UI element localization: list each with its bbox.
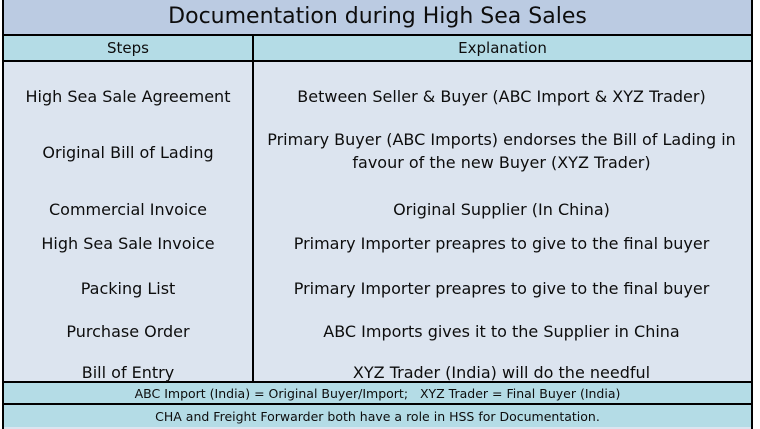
table-row: Original Bill of Lading <box>4 142 252 163</box>
table-row: Primary Importer preapres to give to the… <box>252 233 751 254</box>
table-row: Primary Importer preapres to give to the… <box>252 278 751 299</box>
steps-column: High Sea Sale Agreement Original Bill of… <box>4 62 252 381</box>
table-row: Between Seller & Buyer (ABC Import & XYZ… <box>252 86 751 107</box>
table-title-band: Documentation during High Sea Sales <box>4 0 751 36</box>
documentation-table: Documentation during High Sea Sales Step… <box>2 0 753 429</box>
table-row: Packing List <box>4 278 252 299</box>
column-header-explanation: Explanation <box>252 36 751 60</box>
footnote-text: CHA and Freight Forwarder both have a ro… <box>155 410 600 423</box>
explanation-column: Between Seller & Buyer (ABC Import & XYZ… <box>252 62 751 381</box>
table-row: High Sea Sale Invoice <box>4 233 252 254</box>
table-header-row: Steps Explanation <box>4 36 751 62</box>
table-row: High Sea Sale Agreement <box>4 86 252 107</box>
footnote-row-cha: CHA and Freight Forwarder both have a ro… <box>4 405 751 427</box>
table-row: Bill of Entry <box>4 362 252 383</box>
column-header-steps: Steps <box>4 36 252 60</box>
table-row: Primary Buyer (ABC Imports) endorses the… <box>252 128 751 174</box>
table-row: XYZ Trader (India) will do the needful <box>252 362 751 383</box>
page-title: Documentation during High Sea Sales <box>168 6 587 28</box>
table-row: ABC Imports gives it to the Supplier in … <box>252 321 751 342</box>
table-row: Purchase Order <box>4 321 252 342</box>
table-row: Original Supplier (In China) <box>252 199 751 220</box>
footnote-text: ABC Import (India) = Original Buyer/Impo… <box>135 387 621 400</box>
footnote-row-parties: ABC Import (India) = Original Buyer/Impo… <box>4 383 751 405</box>
table-row: Commercial Invoice <box>4 199 252 220</box>
table-body: High Sea Sale Agreement Original Bill of… <box>4 62 751 383</box>
